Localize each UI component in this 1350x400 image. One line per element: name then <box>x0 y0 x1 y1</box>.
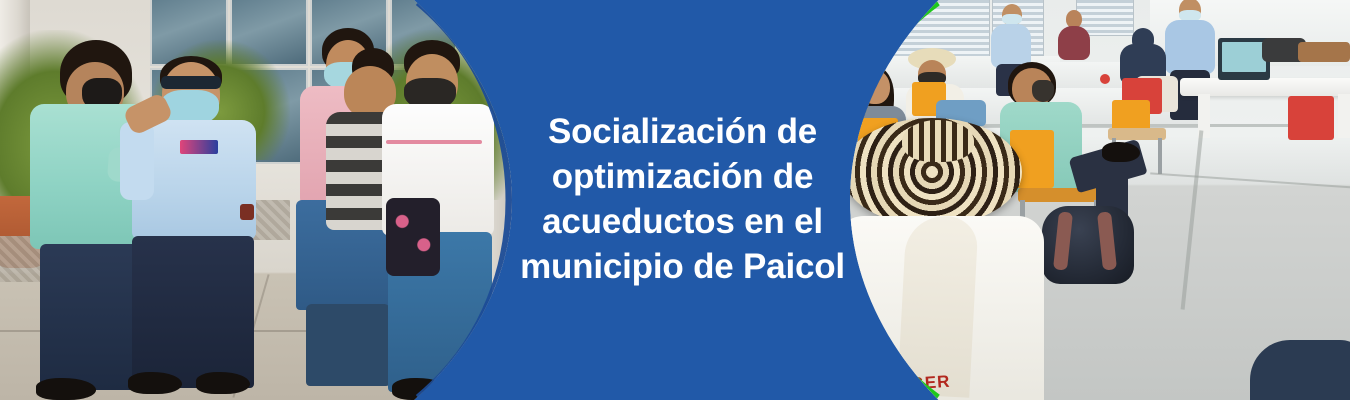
page-title: Socialización de optimización de acueduc… <box>520 110 845 289</box>
chair-back-red <box>1288 96 1334 140</box>
shoe <box>128 372 182 394</box>
torso <box>991 24 1031 68</box>
wristwatch <box>240 204 254 220</box>
items-on-desk <box>1298 42 1350 62</box>
legs <box>132 236 254 388</box>
left-photo <box>0 0 515 400</box>
chair-leg <box>1158 138 1162 174</box>
right-photo: ALGER <box>850 0 1350 400</box>
headline-block: Socialización de optimización de acueduc… <box>495 0 870 400</box>
floor-seam <box>1181 130 1204 309</box>
shirt-pocket-logo <box>180 140 218 154</box>
shoe <box>1102 142 1140 162</box>
sombrero-vueltiao-crown <box>902 120 974 162</box>
person-foreground-right <box>1250 340 1350 400</box>
left-photo-scene <box>0 0 515 400</box>
banner: ALGER Socialización de optimización de a… <box>0 0 1350 400</box>
arm <box>120 122 154 200</box>
monitor-screen <box>1222 42 1266 72</box>
desk-leg <box>1338 94 1350 138</box>
torso <box>1058 26 1090 60</box>
right-photo-scene: ALGER <box>850 0 1350 400</box>
red-wall-marker <box>1100 74 1110 84</box>
floor-seam <box>1150 172 1350 189</box>
handbag <box>386 198 440 276</box>
sunglasses <box>161 76 221 89</box>
torso <box>1165 20 1215 74</box>
shoe <box>196 372 250 394</box>
shoe <box>36 378 96 400</box>
shirt-stripe <box>386 140 482 144</box>
legs <box>306 304 390 386</box>
chair-seat <box>1018 188 1106 202</box>
face-mask <box>1032 80 1054 102</box>
